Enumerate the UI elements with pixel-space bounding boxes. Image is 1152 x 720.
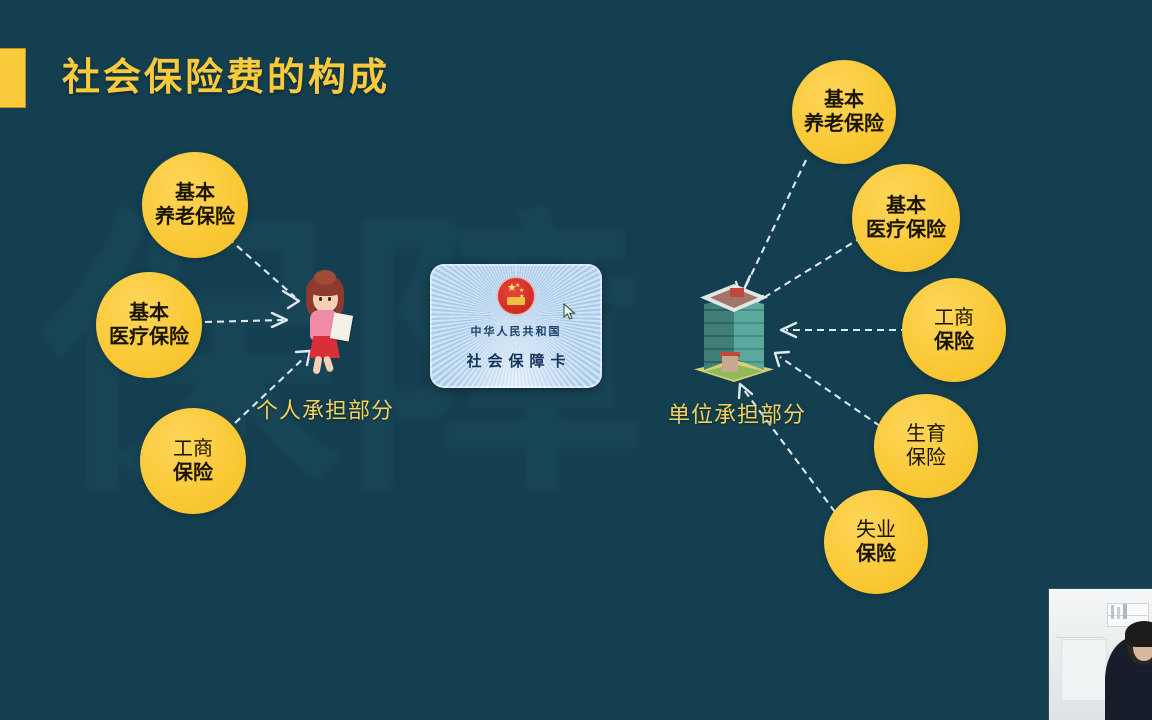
- bubble-left-pension[interactable]: 基本 养老保险: [142, 152, 248, 258]
- bubble-line-1: 基本: [129, 301, 169, 325]
- bubble-right-maternity[interactable]: 生育 保险: [874, 394, 978, 498]
- bubble-line-2: 保险: [906, 446, 946, 470]
- bubble-line-1: 基本: [886, 194, 926, 218]
- bubble-line-1: 失业: [856, 518, 896, 542]
- card-country-name: 中华人民共和国: [471, 323, 562, 339]
- bubble-line-2: 保险: [934, 330, 974, 354]
- bubble-right-unemployment[interactable]: 失业 保险: [824, 490, 928, 594]
- presentation-slide: 保障 社会保险费的构成 基本 养老保险 基本: [0, 0, 1152, 720]
- video-shelf-item: [1123, 604, 1127, 619]
- bubble-left-medical[interactable]: 基本 医疗保险: [96, 272, 202, 378]
- presenter-video-overlay[interactable]: [1048, 588, 1152, 720]
- bubble-right-work-injury[interactable]: 工商 保险: [902, 278, 1006, 382]
- bubble-right-medical[interactable]: 基本 医疗保险: [852, 164, 960, 272]
- office-building-illustration: [692, 272, 776, 390]
- caption-employer-share: 单位承担部分: [668, 397, 806, 429]
- presenter-hair: [1125, 621, 1152, 647]
- bubble-line-2: 养老保险: [804, 112, 884, 136]
- national-emblem-icon: ★ ★ ★ ★ ★: [498, 278, 534, 314]
- video-shelf-item: [1117, 607, 1120, 619]
- caption-individual-share: 个人承担部分: [256, 393, 394, 425]
- bubble-line-2: 医疗保险: [109, 325, 189, 349]
- bubble-line-2: 养老保险: [155, 205, 235, 229]
- bubble-line-2: 医疗保险: [866, 218, 946, 242]
- social-security-card: ★ ★ ★ ★ ★ 中华人民共和国 社会保障卡: [430, 264, 602, 388]
- bubble-line-1: 工商: [934, 306, 974, 330]
- bubble-line-1: 基本: [824, 88, 864, 112]
- bubble-line-1: 工商: [173, 437, 213, 461]
- bubble-left-work-injury[interactable]: 工商 保险: [140, 408, 246, 514]
- person-illustration: [292, 272, 360, 376]
- bubble-right-pension[interactable]: 基本 养老保险: [792, 60, 896, 164]
- bubble-line-1: 生育: [906, 422, 946, 446]
- page-title: 社会保险费的构成: [62, 48, 390, 106]
- bubble-line-2: 保险: [173, 461, 213, 485]
- title-accent-marker: [0, 48, 26, 108]
- slide-title-bar: 社会保险费的构成: [0, 0, 1152, 118]
- video-wall-panel: [1061, 639, 1107, 701]
- video-shelf-item: [1111, 605, 1114, 619]
- bubble-line-1: 基本: [175, 181, 215, 205]
- bubble-line-2: 保险: [856, 542, 896, 566]
- card-title: 社会保障卡: [460, 350, 571, 371]
- video-wall-line: [1055, 637, 1103, 638]
